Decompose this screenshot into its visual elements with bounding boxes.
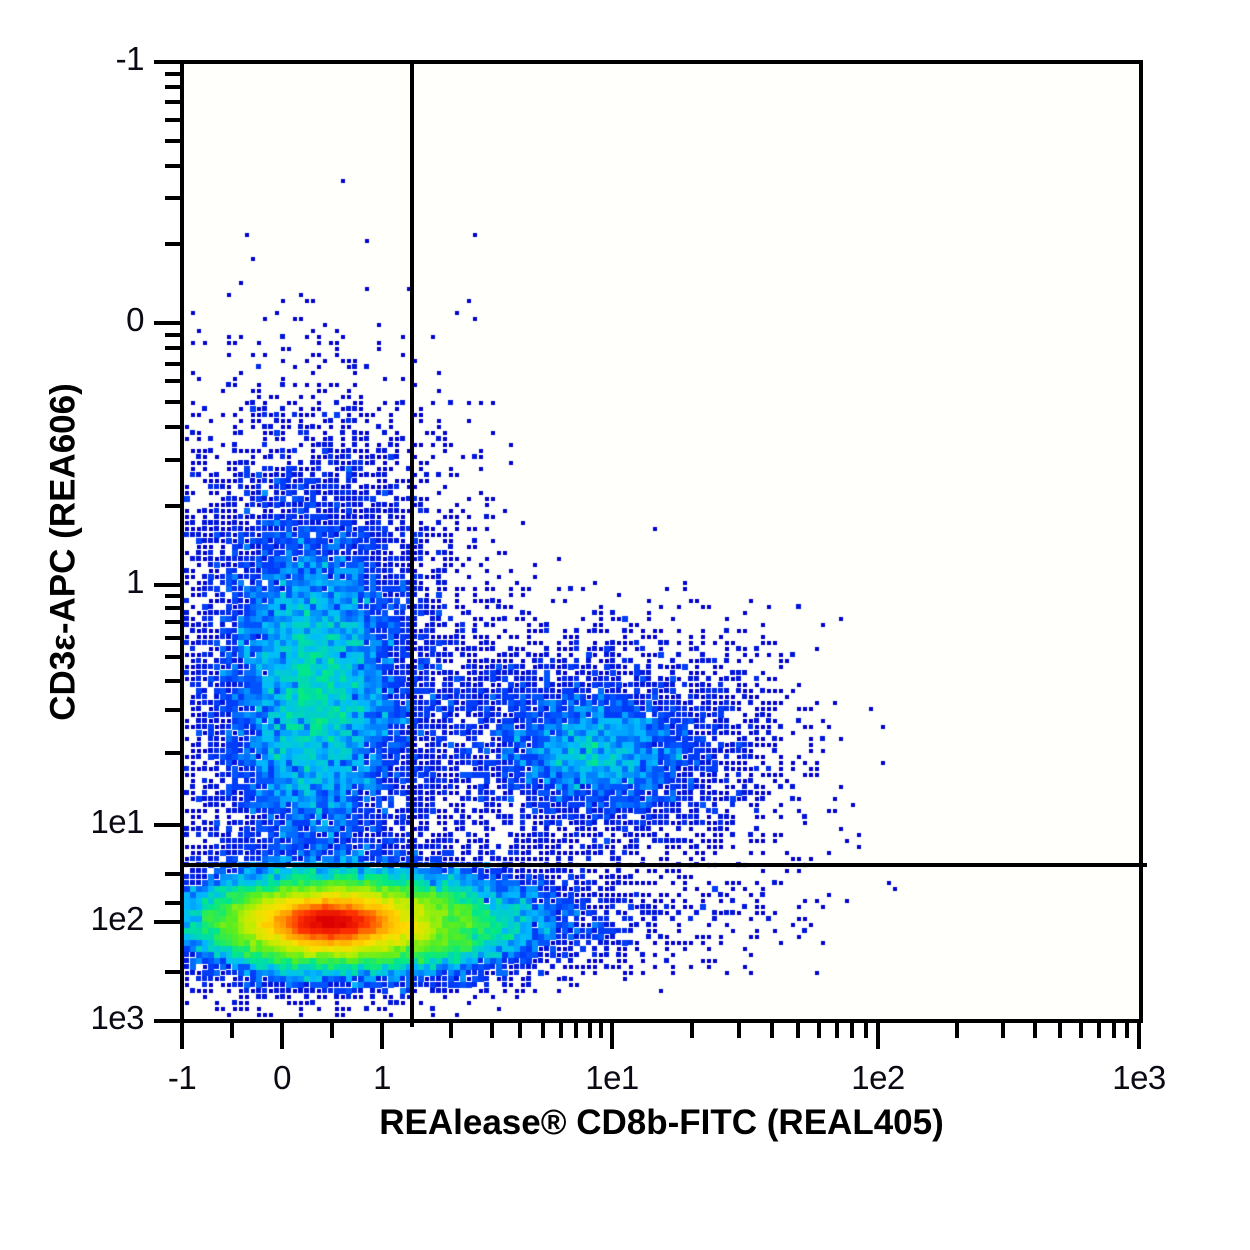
x-axis-major-tick xyxy=(610,1023,614,1049)
x-axis-minor-tick xyxy=(690,1023,694,1038)
x-axis-title: REAlease® CD8b-FITC (REAL405) xyxy=(180,1103,1143,1143)
x-axis-minor-tick xyxy=(1033,1023,1037,1038)
x-axis-minor-tick xyxy=(955,1023,959,1038)
vertical-gate-line[interactable] xyxy=(410,64,414,1027)
plot-area[interactable] xyxy=(180,60,1143,1023)
x-axis-major-tick xyxy=(280,1023,284,1049)
y-axis-minor-tick xyxy=(165,708,180,712)
x-axis-minor-tick xyxy=(449,1023,453,1038)
flow-cytometry-plot-page: -1011e11e21e3 -1011e11e21e3 REAlease® CD… xyxy=(0,0,1250,1250)
y-axis-minor-tick xyxy=(165,118,180,122)
x-axis-major-tick xyxy=(1137,1023,1141,1049)
y-axis-minor-tick xyxy=(165,620,180,624)
x-axis-minor-tick xyxy=(817,1023,821,1038)
x-axis-tick-label: 1e1 xyxy=(537,1059,687,1097)
y-axis-major-tick xyxy=(154,321,180,325)
y-axis-minor-tick xyxy=(165,504,180,508)
y-axis-minor-tick xyxy=(165,72,180,76)
x-axis-minor-tick xyxy=(518,1023,522,1038)
y-axis-minor-tick xyxy=(165,346,180,350)
x-axis-major-tick xyxy=(380,1023,384,1049)
x-axis-minor-tick xyxy=(1001,1023,1005,1038)
y-axis-major-tick xyxy=(154,920,180,924)
y-axis-minor-tick xyxy=(165,242,180,246)
x-axis-minor-tick xyxy=(574,1023,578,1038)
x-axis-major-tick xyxy=(876,1023,880,1049)
y-axis-minor-tick xyxy=(165,458,180,462)
x-axis-minor-tick xyxy=(541,1023,545,1038)
x-axis-minor-tick xyxy=(1079,1023,1083,1038)
y-axis-minor-tick xyxy=(165,379,180,383)
x-axis-minor-tick xyxy=(599,1023,603,1038)
x-axis-minor-tick xyxy=(490,1023,494,1038)
y-axis-major-tick xyxy=(154,823,180,827)
scatter-density-canvas xyxy=(184,64,1139,1019)
y-axis-minor-tick xyxy=(165,85,180,89)
y-axis-minor-tick xyxy=(165,901,180,905)
y-axis-minor-tick xyxy=(165,751,180,755)
x-axis-minor-tick xyxy=(1125,1023,1129,1038)
y-axis-minor-tick xyxy=(165,872,180,876)
x-axis-minor-tick xyxy=(330,1023,334,1038)
y-axis-minor-tick xyxy=(165,606,180,610)
x-axis-tick-label: 1 xyxy=(307,1059,457,1097)
x-axis-major-tick xyxy=(180,1023,184,1049)
y-axis-minor-tick xyxy=(165,679,180,683)
y-axis-minor-tick xyxy=(165,362,180,366)
horizontal-gate-line[interactable] xyxy=(184,863,1147,867)
y-axis-minor-tick xyxy=(165,196,180,200)
x-axis-minor-tick xyxy=(850,1023,854,1038)
y-axis-minor-tick xyxy=(165,425,180,429)
x-axis-tick-label: 1e2 xyxy=(803,1059,953,1097)
y-axis-minor-tick xyxy=(165,139,180,143)
y-axis-minor-tick xyxy=(165,164,180,168)
x-axis-minor-tick xyxy=(230,1023,234,1038)
y-axis-minor-tick xyxy=(165,400,180,404)
x-axis-minor-tick xyxy=(864,1023,868,1038)
x-axis-minor-tick xyxy=(835,1023,839,1038)
x-axis-minor-tick xyxy=(1097,1023,1101,1038)
y-axis-minor-tick xyxy=(165,100,180,104)
x-axis-minor-tick xyxy=(737,1023,741,1038)
y-axis-major-tick xyxy=(154,60,180,64)
x-axis-minor-tick xyxy=(1112,1023,1116,1038)
y-axis-title: CD3ε-APC (REA606) xyxy=(44,71,84,1034)
x-axis-minor-tick xyxy=(770,1023,774,1038)
x-axis-tick-label: 1e3 xyxy=(1064,1059,1214,1097)
y-axis-minor-tick xyxy=(165,970,180,974)
y-axis-minor-tick xyxy=(165,333,180,337)
y-axis-minor-tick xyxy=(165,636,180,640)
y-axis-major-tick xyxy=(154,583,180,587)
x-axis-minor-tick xyxy=(588,1023,592,1038)
x-axis-minor-tick xyxy=(796,1023,800,1038)
y-axis-minor-tick xyxy=(165,655,180,659)
x-axis-minor-tick xyxy=(559,1023,563,1038)
y-axis-minor-tick xyxy=(165,594,180,598)
x-axis-minor-tick xyxy=(1058,1023,1062,1038)
y-axis-major-tick xyxy=(154,1019,180,1023)
